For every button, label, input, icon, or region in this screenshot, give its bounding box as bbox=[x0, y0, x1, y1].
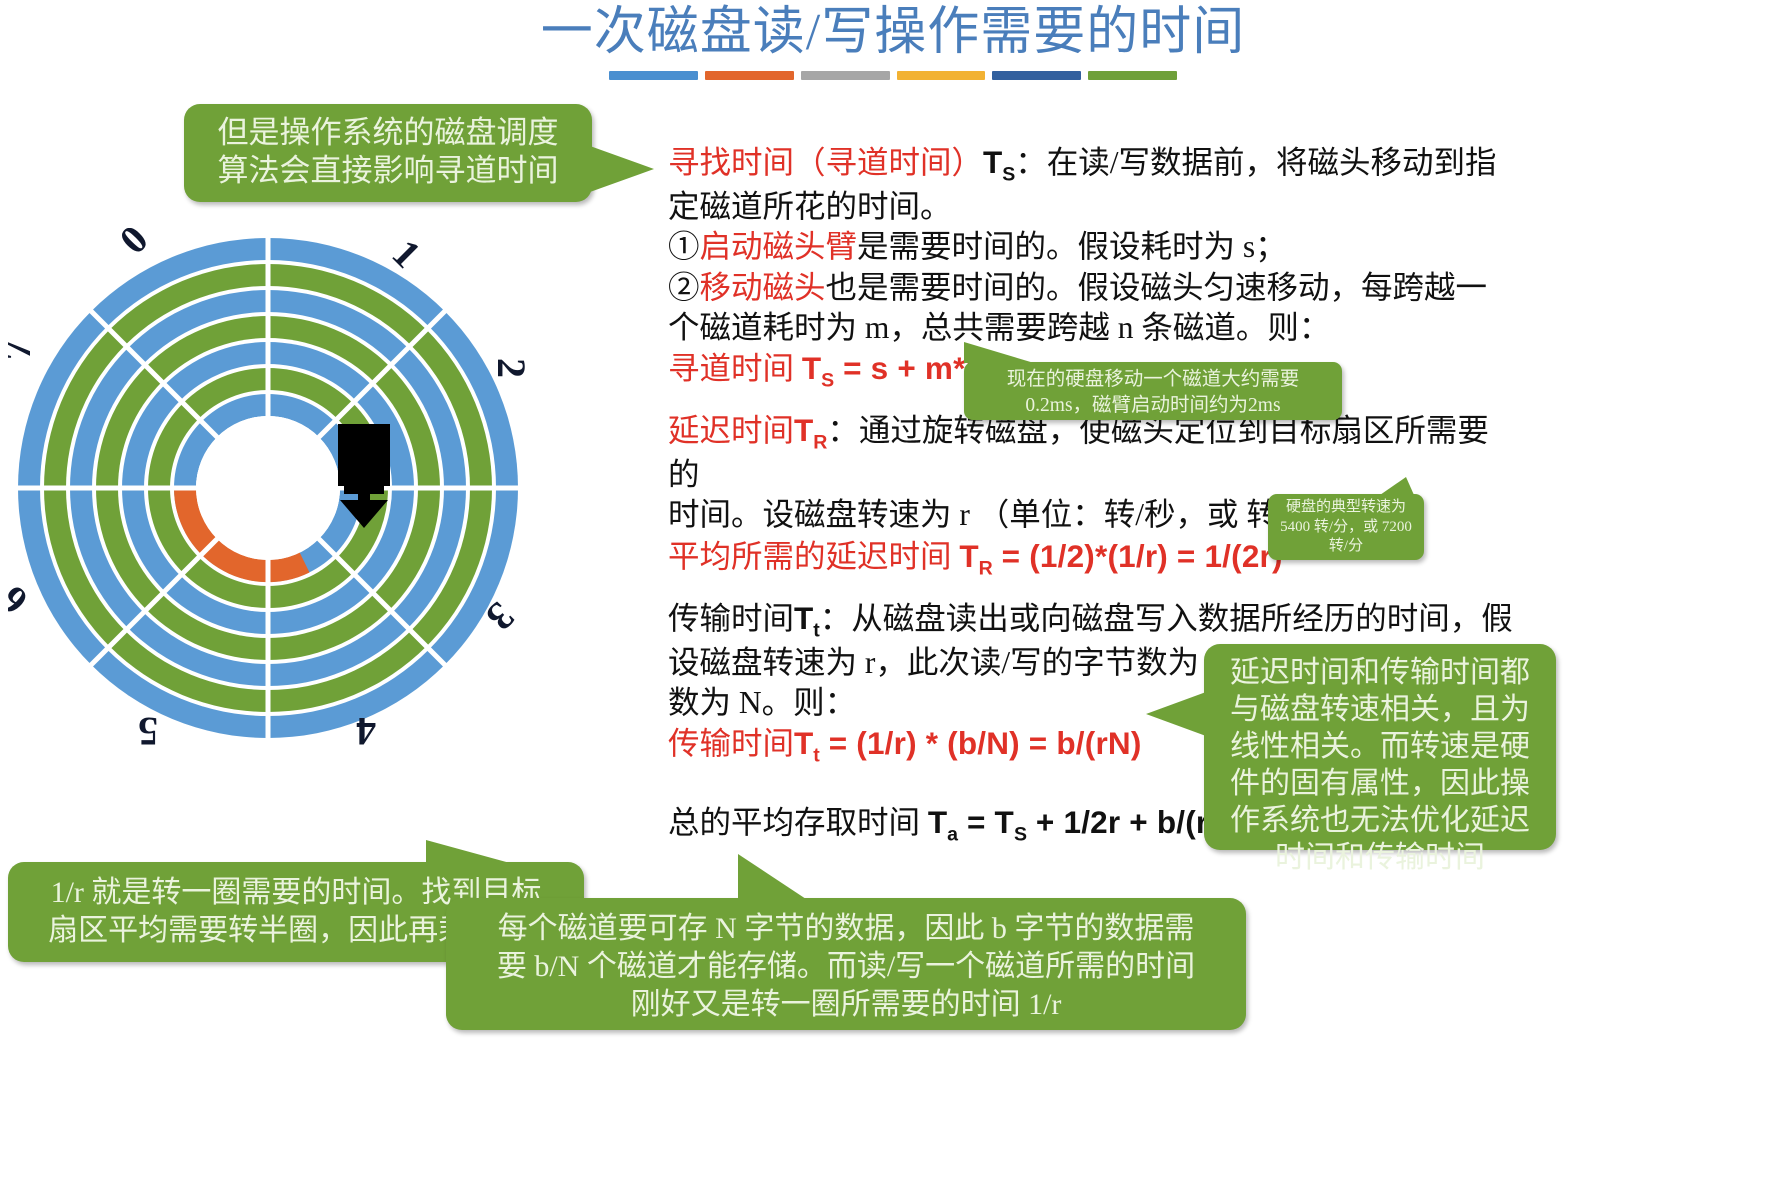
callout-bytes-line-3: 刚好又是转一圈所需要的时间 1/r bbox=[464, 986, 1228, 1024]
title-bar-3 bbox=[801, 71, 890, 80]
latency-formula-label: 平均所需的延迟时间 bbox=[668, 539, 959, 574]
seek-heading-var: T bbox=[983, 144, 1002, 180]
seek-heading-sub: S bbox=[1002, 163, 1015, 185]
callout-seek-milliseconds: 现在的硬盘移动一个磁道大约需要 0.2ms，磁臂启动时间约为2ms bbox=[964, 362, 1342, 420]
callout-disk-scheduling: 但是操作系统的磁盘调度 算法会直接影响寻道时间 bbox=[184, 104, 592, 202]
total-var-sub: a bbox=[947, 824, 958, 846]
callout-rotate-tail bbox=[426, 840, 510, 863]
callout-linear-line-4: 件的固有属性，因此操 bbox=[1218, 765, 1542, 802]
callout-linear-relation: 延迟时间和传输时间都 与磁盘转速相关，且为 线性相关。而转速是硬 件的固有属性，… bbox=[1204, 644, 1556, 850]
latency-heading-red: 延迟时间 bbox=[668, 413, 794, 448]
track-label-7: 7 bbox=[8, 340, 39, 360]
callout-bytes-line-2: 要 b/N 个磁道才能存储。而读/写一个磁道所需的时间 bbox=[464, 948, 1228, 986]
seek-heading-rest: ：在读/写数据前，将磁头移动到指 bbox=[1015, 145, 1496, 180]
callout-sched-line-1: 但是操作系统的磁盘调度 bbox=[200, 114, 576, 152]
latency-heading-sub: R bbox=[813, 431, 827, 453]
transfer-formula-label: 传输时间 bbox=[668, 726, 794, 761]
seek-item1-red: 启动磁头臂 bbox=[700, 229, 858, 264]
seek-formula-rest: = s + m*n bbox=[834, 350, 985, 386]
title-bar-5 bbox=[992, 71, 1081, 80]
seek-item2-prefix: ② bbox=[668, 270, 700, 305]
callout-rpm-line-3: 转/分 bbox=[1274, 537, 1418, 557]
callout-seek-line-2: 0.2ms，磁臂启动时间约为2ms bbox=[974, 393, 1332, 419]
title-bar-1 bbox=[609, 71, 698, 80]
latency-formula-var: T bbox=[959, 538, 978, 574]
page-title: 一次磁盘读/写操作需要的时间 bbox=[0, 6, 1786, 61]
seek-item2-red: 移动磁头 bbox=[700, 270, 826, 305]
seek-item1-rest: 是需要时间的。假设耗时为 s； bbox=[857, 229, 1287, 264]
transfer-heading-var: T bbox=[794, 600, 813, 636]
total-rest-sub: S bbox=[1014, 824, 1027, 846]
seek-item2-rest: 也是需要时间的。假设磁头匀速移动，每跨越一 bbox=[826, 270, 1488, 305]
callout-rpm-line-2: 5400 转/分，或 7200 bbox=[1274, 518, 1418, 538]
callout-typical-rpm: 硬盘的典型转速为 5400 转/分，或 7200 转/分 bbox=[1268, 494, 1424, 560]
latency-formula-rest: = (1/2)*(1/r) = 1/(2r) bbox=[993, 538, 1283, 574]
transfer-heading-line: 传输时间Tt：从磁盘读出或向磁盘写入数据所经历的时间，假 bbox=[668, 598, 1518, 643]
callout-linear-tail bbox=[1146, 692, 1206, 736]
callout-sched-line-2: 算法会直接影响寻道时间 bbox=[200, 152, 576, 190]
title-bar-4 bbox=[897, 71, 986, 80]
title-bar-2 bbox=[705, 71, 794, 80]
disk-spindle-hole bbox=[196, 416, 340, 560]
callout-rpm-line-1: 硬盘的典型转速为 bbox=[1274, 498, 1418, 518]
seek-item-2: ②移动磁头也是需要时间的。假设磁头匀速移动，每跨越一 bbox=[668, 268, 1518, 308]
callout-linear-line-1: 延迟时间和传输时间都 bbox=[1218, 654, 1542, 691]
callout-bytes-tail bbox=[738, 854, 806, 899]
callout-linear-line-3: 线性相关。而转速是硬 bbox=[1218, 728, 1542, 765]
callout-rpm-tail bbox=[1380, 477, 1414, 495]
callout-seek-tail bbox=[964, 342, 1034, 363]
total-var: T bbox=[928, 804, 947, 840]
seek-heading-line: 寻找时间（寻道时间）TS：在读/写数据前，将磁头移动到指 bbox=[668, 142, 1518, 187]
seek-formula-sub: S bbox=[821, 369, 834, 391]
seek-item-2-cont: 个磁道耗时为 m，总共需要跨越 n 条磁道。则： bbox=[668, 308, 1518, 348]
track-label-5: 5 bbox=[138, 709, 158, 748]
total-label: 总的平均存取时间 bbox=[668, 805, 928, 840]
callout-bytes-line-1: 每个磁道要可存 N 字节的数据，因此 b 字节的数据需 bbox=[464, 910, 1228, 948]
track-label-6: 6 bbox=[8, 577, 36, 623]
transfer-formula-rest: = (1/r) * (b/N) = b/(rN) bbox=[820, 725, 1142, 761]
transfer-heading-rest: ：从磁盘读出或向磁盘写入数据所经历的时间，假 bbox=[820, 601, 1513, 636]
seek-formula-label: 寻道时间 bbox=[668, 351, 802, 386]
seek-item1-prefix: ① bbox=[668, 229, 700, 264]
seek-heading-red: 寻找时间（寻道时间） bbox=[668, 145, 983, 180]
seek-item-1: ①启动磁头臂是需要时间的。假设耗时为 s； bbox=[668, 227, 1518, 267]
total-rest-1: = T bbox=[958, 804, 1014, 840]
title-bar-6 bbox=[1088, 71, 1177, 80]
disk-svg: 0 1 2 3 4 5 6 7 bbox=[8, 228, 528, 748]
callout-sched-tail bbox=[590, 146, 654, 192]
seek-line-2: 定磁道所花的时间。 bbox=[668, 187, 1518, 227]
callout-linear-line-5: 作系统也无法优化延迟 bbox=[1218, 802, 1542, 839]
disk-platter-diagram: 0 1 2 3 4 5 6 7 bbox=[8, 228, 528, 748]
transfer-formula-var: T bbox=[794, 725, 813, 761]
track-label-2: 2 bbox=[489, 358, 528, 378]
latency-formula-sub: R bbox=[979, 557, 993, 579]
latency-heading-var: T bbox=[794, 412, 813, 448]
track-label-4: 4 bbox=[356, 709, 376, 748]
track-label-1: 1 bbox=[384, 231, 430, 277]
callout-bytes-per-track: 每个磁道要可存 N 字节的数据，因此 b 字节的数据需 要 b/N 个磁道才能存… bbox=[446, 898, 1246, 1030]
transfer-heading: 传输时间 bbox=[668, 601, 794, 636]
seek-formula-var: T bbox=[802, 350, 821, 386]
spacer-2 bbox=[668, 581, 1518, 598]
track-label-0: 0 bbox=[111, 228, 157, 262]
callout-linear-line-2: 与磁盘转速相关，且为 bbox=[1218, 691, 1542, 728]
callout-linear-line-6: 时间和传输时间 bbox=[1218, 839, 1542, 876]
callout-seek-line-1: 现在的硬盘移动一个磁道大约需要 bbox=[974, 367, 1332, 393]
title-block: 一次磁盘读/写操作需要的时间 bbox=[0, 6, 1786, 80]
title-underline-bars bbox=[609, 71, 1177, 80]
